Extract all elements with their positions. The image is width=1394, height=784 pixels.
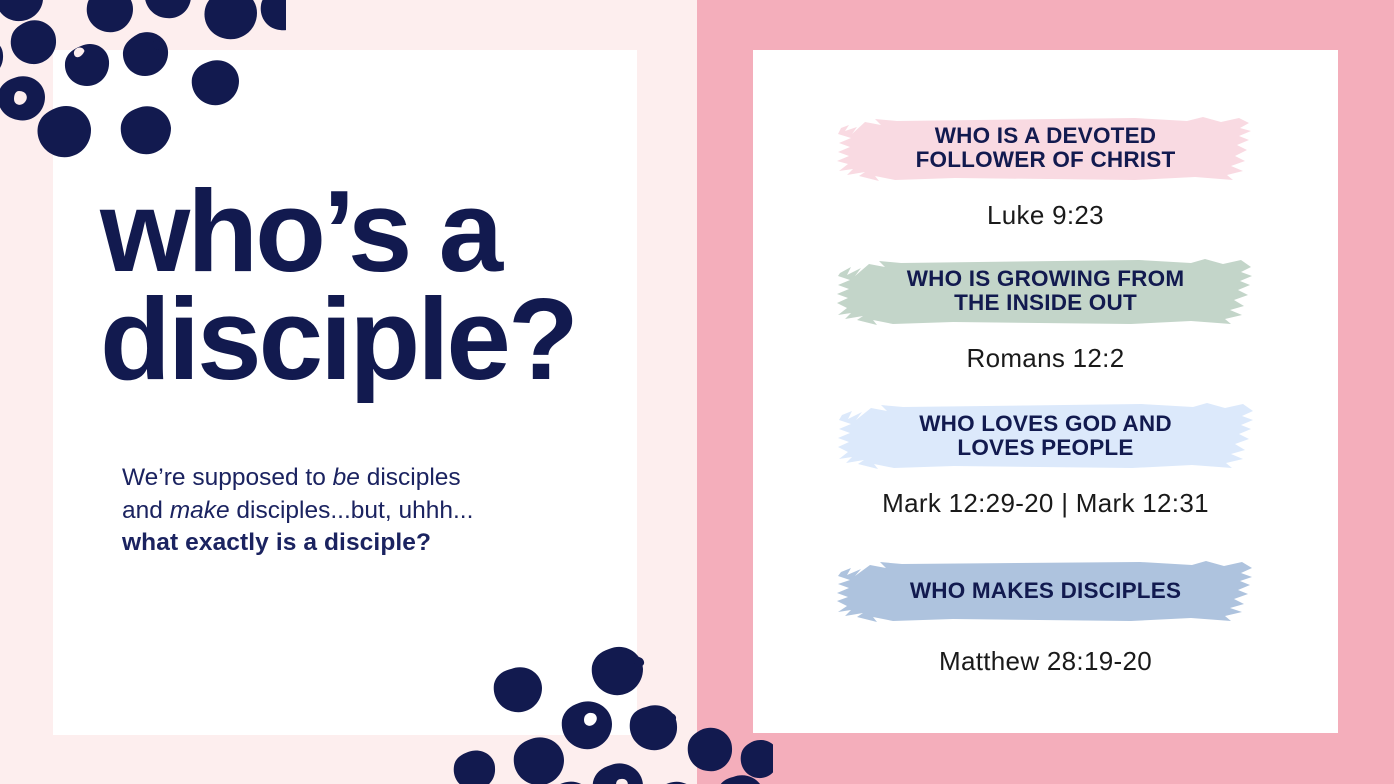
trait-banner: WHO IS GROWING FROM THE INSIDE OUT bbox=[836, 255, 1256, 327]
subtitle-line-2-emphasis: make bbox=[170, 497, 230, 524]
subtitle-line-3-question: what exactly is a disciple? bbox=[122, 527, 592, 560]
trait-heading: WHO MAKES DISCIPLES bbox=[910, 579, 1181, 603]
trait-heading: WHO IS A DEVOTED FOLLOWER OF CHRIST bbox=[916, 124, 1176, 173]
trait-scripture-reference: Luke 9:23 bbox=[753, 200, 1338, 231]
headline-block: who’s a disciple? bbox=[100, 178, 640, 394]
list-item: WHO MAKES DISCIPLES Matthew 28:19-20 bbox=[753, 558, 1338, 677]
list-item: WHO LOVES GOD AND LOVES PEOPLE Mark 12:2… bbox=[753, 400, 1338, 519]
trait-banner: WHO LOVES GOD AND LOVES PEOPLE bbox=[836, 400, 1256, 472]
subtitle-line-1-pre: We’re supposed to bbox=[122, 464, 333, 491]
trait-scripture-reference: Matthew 28:19-20 bbox=[753, 646, 1338, 677]
subtitle-line-1-emphasis: be bbox=[333, 464, 360, 491]
trait-banner: WHO IS A DEVOTED FOLLOWER OF CHRIST bbox=[836, 112, 1256, 184]
trait-heading: WHO LOVES GOD AND LOVES PEOPLE bbox=[919, 412, 1172, 461]
trait-banner: WHO MAKES DISCIPLES bbox=[836, 558, 1256, 624]
disciple-traits-list: WHO IS A DEVOTED FOLLOWER OF CHRIST Luke… bbox=[753, 50, 1338, 733]
list-item: WHO IS GROWING FROM THE INSIDE OUT Roman… bbox=[753, 255, 1338, 374]
subtitle-block: We’re supposed to be disciples and make … bbox=[122, 462, 592, 560]
subtitle-line-1: We’re supposed to be disciples bbox=[122, 462, 592, 495]
page-title: who’s a disciple? bbox=[100, 178, 640, 394]
trait-heading: WHO IS GROWING FROM THE INSIDE OUT bbox=[907, 267, 1185, 316]
list-item: WHO IS A DEVOTED FOLLOWER OF CHRIST Luke… bbox=[753, 112, 1338, 231]
subtitle-line-2-post: disciples...but, uhhh... bbox=[230, 497, 474, 524]
subtitle-line-2: and make disciples...but, uhhh... bbox=[122, 495, 592, 528]
trait-scripture-reference: Mark 12:29-20 | Mark 12:31 bbox=[753, 488, 1338, 519]
subtitle-line-2-pre: and bbox=[122, 497, 170, 524]
slide-canvas: who’s a disciple? We’re supposed to be d… bbox=[0, 0, 1394, 784]
subtitle-line-1-post: disciples bbox=[360, 464, 461, 491]
trait-scripture-reference: Romans 12:2 bbox=[753, 343, 1338, 374]
